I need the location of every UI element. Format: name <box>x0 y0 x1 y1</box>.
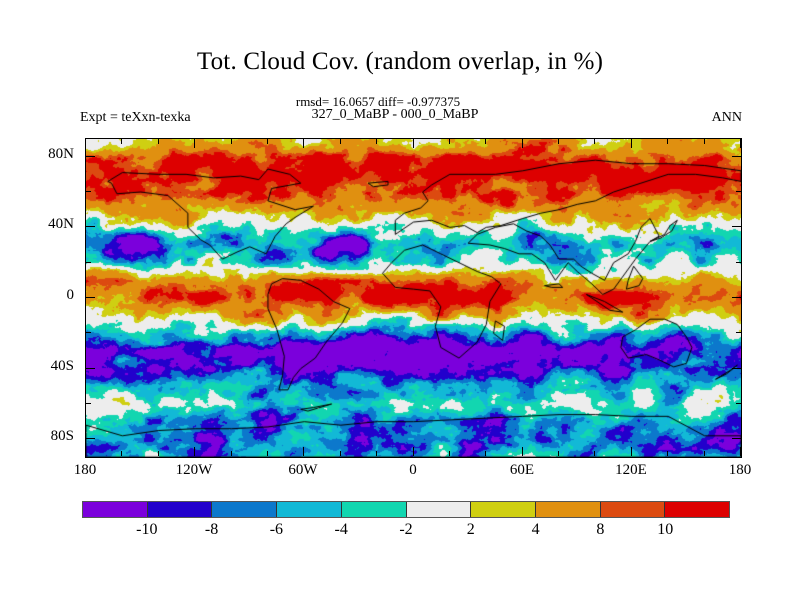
x-minor-tick <box>667 451 668 456</box>
x-minor-tick <box>558 139 559 144</box>
colorbar-label--6: -6 <box>270 521 283 539</box>
y-minor-tick <box>736 403 741 404</box>
colorbar-segment-5 <box>407 502 472 517</box>
x-axis-label-60W: 60W <box>288 462 317 479</box>
x-axis-label-180: 180 <box>729 462 752 479</box>
y-minor-tick <box>86 191 91 192</box>
map-field-canvas <box>86 139 741 457</box>
x-axis-label-120E: 120E <box>615 462 647 479</box>
y-tick-40S <box>86 368 95 369</box>
x-tick-180 <box>740 447 741 456</box>
x-minor-tick <box>376 139 377 144</box>
case-difference-label: 327_0_MaBP - 000_0_MaBP <box>0 107 795 123</box>
colorbar-label-4: 4 <box>532 521 540 539</box>
y-minor-tick <box>86 262 91 263</box>
x-minor-tick <box>558 451 559 456</box>
x-minor-tick <box>376 451 377 456</box>
colorbar-label-10: 10 <box>657 521 673 539</box>
page-title: Tot. Cloud Cov. (random overlap, in %) <box>0 48 800 76</box>
x-tick-180 <box>85 447 86 456</box>
colorbar-label-8: 8 <box>596 521 604 539</box>
x-tick-0 <box>413 139 414 148</box>
x-tick-180 <box>740 139 741 148</box>
figure-root: Tot. Cloud Cov. (random overlap, in %) r… <box>0 0 800 600</box>
x-tick-60E <box>522 139 523 148</box>
y-axis-label-80S: 80S <box>51 428 74 445</box>
y-minor-tick <box>736 191 741 192</box>
x-minor-tick <box>267 451 268 456</box>
x-minor-tick <box>704 139 705 144</box>
x-minor-tick <box>121 139 122 144</box>
y-tick-80N <box>86 156 95 157</box>
x-minor-tick <box>449 451 450 456</box>
y-minor-tick <box>86 403 91 404</box>
y-tick-80S <box>732 438 741 439</box>
y-tick-80S <box>86 438 95 439</box>
x-minor-tick <box>594 451 595 456</box>
x-minor-tick <box>485 451 486 456</box>
y-minor-tick <box>86 332 91 333</box>
x-tick-120W <box>194 139 195 148</box>
y-axis-label-40S: 40S <box>51 358 74 375</box>
y-tick-40N <box>86 226 95 227</box>
colorbar-segment-2 <box>212 502 277 517</box>
x-axis-label-60E: 60E <box>510 462 534 479</box>
colorbar-segment-0 <box>83 502 148 517</box>
x-minor-tick <box>267 139 268 144</box>
x-tick-120W <box>194 447 195 456</box>
x-minor-tick <box>594 139 595 144</box>
x-axis-label-180: 180 <box>74 462 97 479</box>
colorbar <box>82 501 730 518</box>
x-tick-180 <box>85 139 86 148</box>
x-tick-0 <box>413 447 414 456</box>
y-tick-80N <box>732 156 741 157</box>
colorbar-segment-4 <box>342 502 407 517</box>
season-label: ANN <box>712 110 742 126</box>
y-tick-40S <box>732 368 741 369</box>
colorbar-label--8: -8 <box>205 521 218 539</box>
x-minor-tick <box>340 451 341 456</box>
x-tick-60W <box>303 139 304 148</box>
x-minor-tick <box>340 139 341 144</box>
colorbar-segment-9 <box>665 502 729 517</box>
x-tick-60E <box>522 447 523 456</box>
x-tick-120E <box>631 139 632 148</box>
colorbar-label--10: -10 <box>136 521 157 539</box>
colorbar-segment-8 <box>601 502 666 517</box>
colorbar-label-2: 2 <box>467 521 475 539</box>
x-tick-60W <box>303 447 304 456</box>
y-tick-0 <box>732 297 741 298</box>
colorbar-segment-3 <box>277 502 342 517</box>
x-minor-tick <box>667 139 668 144</box>
x-minor-tick <box>158 139 159 144</box>
x-minor-tick <box>485 139 486 144</box>
x-minor-tick <box>231 451 232 456</box>
y-minor-tick <box>736 262 741 263</box>
y-minor-tick <box>736 332 741 333</box>
x-minor-tick <box>121 451 122 456</box>
x-minor-tick <box>449 139 450 144</box>
map-plot-area <box>85 138 742 458</box>
colorbar-label--4: -4 <box>335 521 348 539</box>
x-tick-120E <box>631 447 632 456</box>
x-minor-tick <box>704 451 705 456</box>
y-axis-label-80N: 80N <box>48 146 74 163</box>
x-minor-tick <box>231 139 232 144</box>
x-minor-tick <box>158 451 159 456</box>
x-axis-label-0: 0 <box>409 462 417 479</box>
y-axis-label-0: 0 <box>67 287 75 304</box>
x-axis-label-120W: 120W <box>176 462 213 479</box>
y-tick-40N <box>732 226 741 227</box>
colorbar-label--2: -2 <box>399 521 412 539</box>
y-axis-label-40N: 40N <box>48 216 74 233</box>
colorbar-segment-6 <box>471 502 536 517</box>
y-tick-0 <box>86 297 95 298</box>
colorbar-segment-1 <box>148 502 213 517</box>
colorbar-segment-7 <box>536 502 601 517</box>
